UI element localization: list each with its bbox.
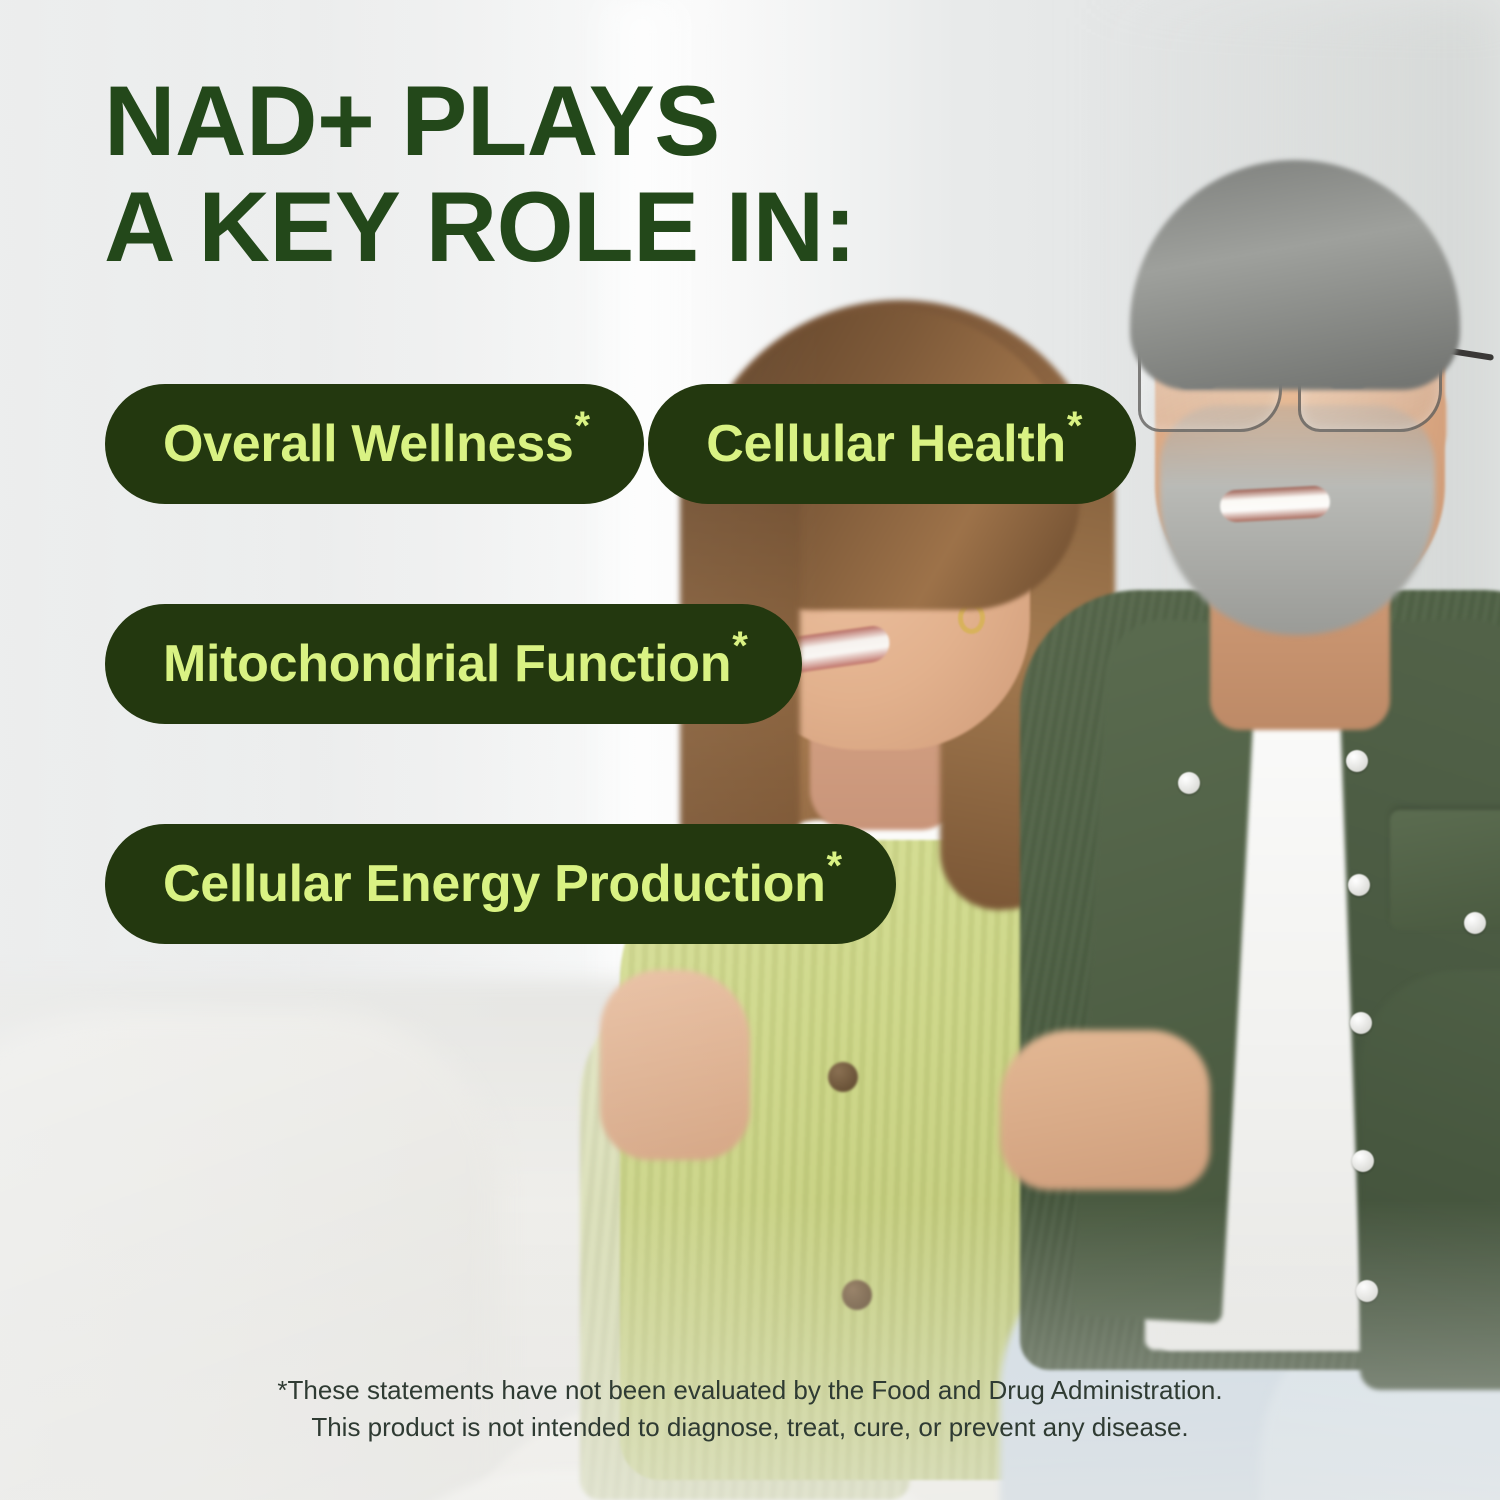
footnote-marker: * — [1067, 406, 1082, 446]
benefit-label: Overall Wellness — [163, 414, 573, 474]
benefit-pill-cellular-energy-production: Cellular Energy Production* — [105, 824, 896, 944]
benefit-pill-overall-wellness: Overall Wellness* — [105, 384, 644, 504]
fda-disclaimer: *These statements have not been evaluate… — [0, 1372, 1500, 1446]
benefit-label: Cellular Energy Production — [163, 854, 826, 914]
overlay-content: NAD+ PLAYS A KEY ROLE IN: Overall Wellne… — [0, 0, 1500, 1500]
disclaimer-line-1: *These statements have not been evaluate… — [0, 1372, 1500, 1409]
benefit-pill-mitochondrial-function: Mitochondrial Function* — [105, 604, 802, 724]
footnote-marker: * — [732, 626, 747, 666]
page-title: NAD+ PLAYS A KEY ROLE IN: — [104, 68, 856, 280]
footnote-marker: * — [827, 846, 842, 886]
marketing-graphic: NAD+ PLAYS A KEY ROLE IN: Overall Wellne… — [0, 0, 1500, 1500]
benefit-list: Overall Wellness* Cellular Health* Mitoc… — [105, 384, 1500, 944]
footnote-marker: * — [574, 406, 589, 446]
disclaimer-line-2: This product is not intended to diagnose… — [0, 1409, 1500, 1446]
benefit-pill-cellular-health: Cellular Health* — [648, 384, 1136, 504]
benefit-label: Cellular Health — [706, 414, 1066, 474]
benefit-label: Mitochondrial Function — [163, 634, 731, 694]
